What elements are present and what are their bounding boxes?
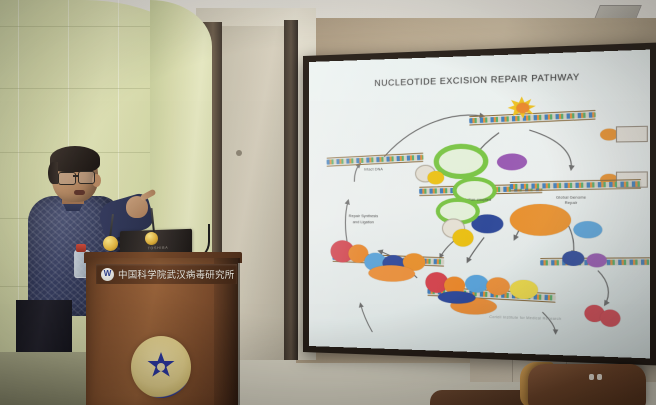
chair-button [597, 374, 602, 380]
podium-plaque: W 中国科学院武汉病毒研究所 [96, 264, 237, 284]
protein-yellow [510, 280, 538, 300]
floor [0, 352, 92, 405]
auditorium-chair [528, 364, 646, 405]
protein-orange [486, 277, 510, 295]
microphone-icon[interactable] [103, 236, 118, 251]
lecture-photo: NUCLEOTIDE EXCISION REPAIR PATHWAY [0, 0, 656, 405]
protein-lightblue [465, 275, 488, 293]
emblem-core [157, 363, 165, 371]
protein-yellow [452, 229, 473, 247]
microphone-icon[interactable] [145, 232, 158, 245]
protein-yellow [427, 171, 444, 185]
projection-screen[interactable]: NUCLEOTIDE EXCISION REPAIR PATHWAY [309, 50, 650, 359]
institute-logo-icon: W [101, 268, 114, 281]
protein-blue [562, 251, 584, 266]
speaker-hair-side [48, 162, 58, 184]
bottle-cap[interactable] [76, 244, 86, 252]
label-global-genome: Global Genome [527, 195, 616, 200]
chair-button [589, 374, 594, 380]
protein-lightblue [573, 221, 602, 238]
speaker-mouth [74, 190, 85, 195]
glasses-bridge [73, 175, 79, 177]
glasses-icon [78, 171, 95, 184]
protein-purple [587, 253, 607, 267]
label-intact-dna: Intact DNA [340, 167, 406, 172]
door-knob-icon [236, 150, 242, 156]
protein-box [616, 126, 648, 143]
institute-name-label: 中国科学院武汉病毒研究所 [118, 267, 234, 281]
protein-hub-orange [510, 204, 571, 236]
glasses-icon [58, 172, 76, 185]
door-frame-right [284, 20, 298, 360]
label-and-ligation: and Ligation [327, 220, 401, 225]
